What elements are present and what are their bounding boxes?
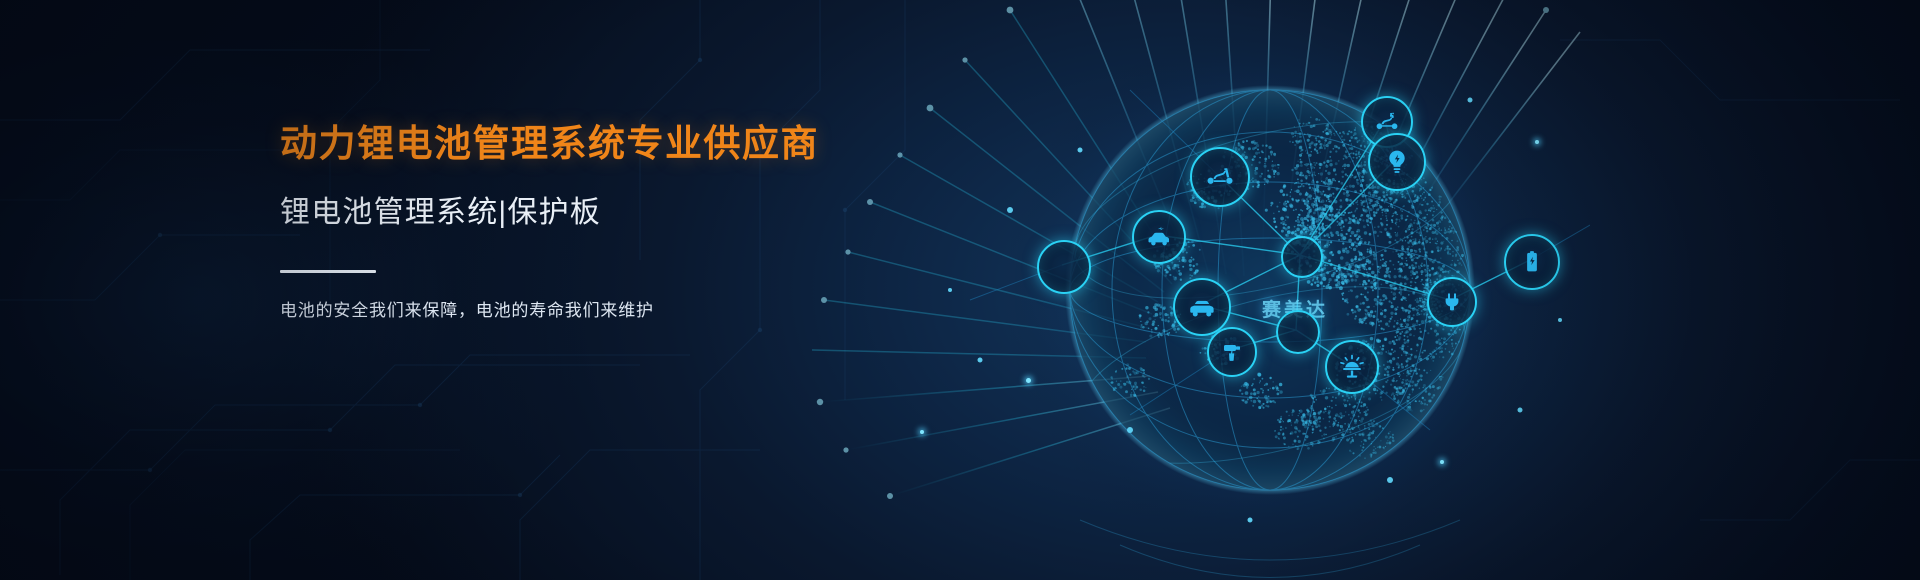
hero-banner: 动力锂电池管理系统专业供应商 锂电池管理系统|保护板 电池的安全我们来保障，电池… <box>0 0 1920 580</box>
vignette-overlay <box>0 0 1920 580</box>
